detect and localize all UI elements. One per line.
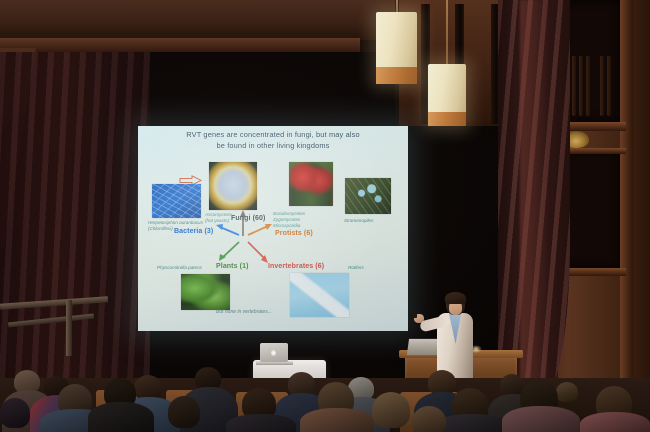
projection-screen[interactable]: RVT genes are concentrated in fungi, but… (138, 126, 408, 331)
rotifers-label: Rotifers (348, 265, 364, 271)
kingdom-label-fungi: Fungi (60) (231, 215, 265, 222)
presentation-slide: RVT genes are concentrated in fungi, but… (138, 126, 408, 331)
lecture-hall-scene: RVT genes are concentrated in fungi, but… (0, 0, 650, 432)
ascomycetes-caption-2: (hot yeasts) (205, 218, 229, 224)
audience-rows (0, 362, 650, 432)
presenter-glasses (448, 303, 461, 306)
fungi-taxon-microsporidia: Microsporidia (273, 223, 300, 229)
ceiling-beam-secondary (0, 38, 360, 52)
audience-shoulders (580, 412, 650, 432)
pendant-cord-right (446, 0, 448, 66)
audience-shoulders (436, 414, 508, 432)
slide-footnote: But none in vertebrates... (216, 309, 272, 315)
stage-curtain-right-fold (520, 0, 550, 395)
stramenopiles-label: Stramenopiles (344, 218, 373, 224)
kingdom-label-plants: Plants (1) (216, 263, 249, 270)
kingdom-label-protists: Protists (6) (275, 230, 313, 237)
laptop-logo-icon (271, 350, 276, 356)
stage-railing-post (66, 300, 72, 356)
audience-shoulders (300, 408, 374, 432)
audience-head (556, 382, 578, 402)
audience-shoulders (226, 414, 296, 432)
pendant-light-right (428, 64, 466, 126)
plant-species-label: Physcomitrella patens (157, 265, 202, 271)
stage-curtain-left (0, 52, 150, 382)
ceiling-beam (0, 0, 400, 40)
kingdom-label-invertebrates: Invertebrates (6) (268, 263, 324, 270)
kingdom-label-bacteria: Bacteria (3) (174, 228, 213, 235)
audience-head (0, 398, 30, 428)
pendant-light-left (376, 12, 417, 84)
audience-head (168, 396, 200, 428)
audience-shoulders (88, 402, 154, 432)
presentation-clicker[interactable] (410, 313, 417, 318)
bacteria-species-group-label: (Chloroflexi) (148, 226, 173, 232)
audience-head (372, 392, 410, 428)
audience-head (412, 406, 446, 432)
audience-shoulders (502, 406, 580, 432)
